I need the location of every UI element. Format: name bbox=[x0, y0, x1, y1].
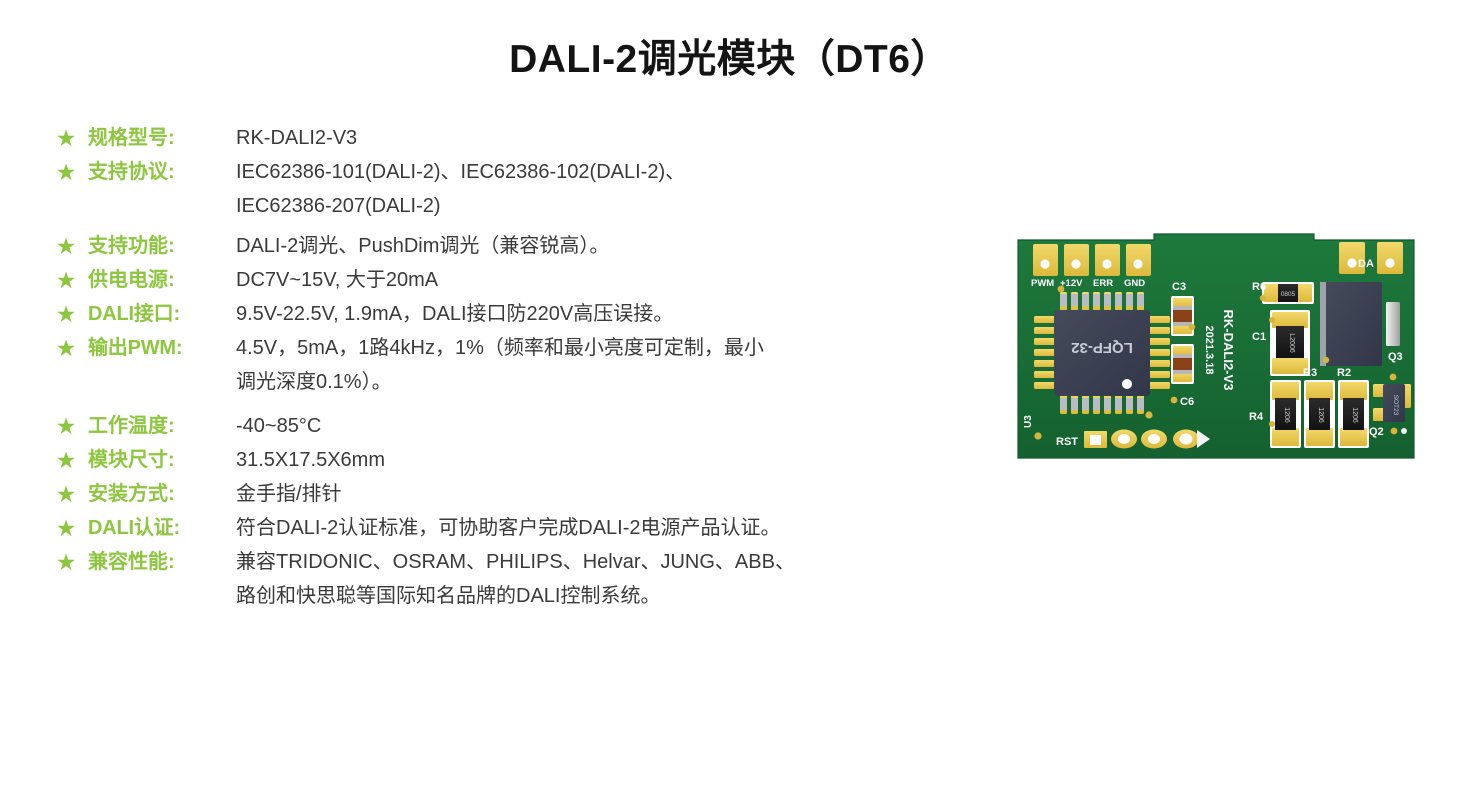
spec-value-model: RK-DALI2-V3 bbox=[236, 124, 994, 152]
spec-label-function: 支持功能: bbox=[88, 232, 236, 260]
spec-value-power: DC7V~15V, 大于20mA bbox=[236, 266, 994, 294]
spec-label-dimensions: 模块尺寸: bbox=[88, 446, 236, 474]
spec-label-power: 供电电源: bbox=[88, 266, 236, 294]
silk-label-r3: R3 bbox=[1303, 367, 1317, 379]
pcb-via bbox=[1034, 432, 1041, 439]
spec-value-dali-interface: 9.5V-22.5V, 1.9mA，DALI接口防220V高压误接。 bbox=[236, 300, 994, 328]
silk-code-l2006: L2006 bbox=[1288, 333, 1295, 353]
pcb-bottom-test-pads bbox=[1084, 430, 1210, 449]
silk-code-1206b: 1206 bbox=[1317, 407, 1324, 423]
pcb-illustration: PWM +12V ERR GND DA bbox=[1014, 232, 1418, 466]
star-icon: ★ bbox=[54, 233, 78, 261]
silk-label-r4: R4 bbox=[1249, 411, 1264, 423]
pcb-component-r3: 1206 bbox=[1304, 380, 1335, 448]
star-icon: ★ bbox=[54, 481, 78, 509]
spec-row-compatibility-cont: 路创和快思聪等国际知名品牌的DALI控制系统。 bbox=[54, 582, 994, 610]
spec-label-protocol: 支持协议: bbox=[88, 158, 236, 186]
pcb-product-image: PWM +12V ERR GND DA bbox=[1014, 232, 1418, 466]
star-icon: ★ bbox=[54, 515, 78, 543]
silk-label-lqfp32: LQFP-32 bbox=[1071, 339, 1133, 356]
silk-label-u3: U3 bbox=[1023, 415, 1034, 428]
pcb-via bbox=[1269, 421, 1275, 427]
silk-label-pwm: PWM bbox=[1031, 278, 1054, 289]
silk-label-da: DA bbox=[1358, 258, 1374, 270]
spec-label-dali-interface: DALI接口: bbox=[88, 300, 236, 328]
silk-label-q2: Q2 bbox=[1369, 426, 1384, 438]
pcb-via bbox=[1058, 286, 1065, 293]
spec-row-protocol-cont: IEC62386-207(DALI-2) bbox=[54, 192, 994, 220]
silk-label-r2: R2 bbox=[1337, 367, 1351, 379]
spec-label-compatibility: 兼容性能: bbox=[88, 548, 236, 576]
spec-row-certification: ★ DALI认证: 符合DALI-2认证标准，可协助客户完成DALI-2电源产品… bbox=[54, 514, 994, 542]
spec-row-mounting: ★ 安装方式: 金手指/排针 bbox=[54, 480, 994, 508]
star-icon: ★ bbox=[54, 125, 78, 153]
spec-row-pwm-cont: 调光深度0.1%）。 bbox=[54, 368, 994, 396]
spec-row-function: ★ 支持功能: DALI-2调光、PushDim调光（兼容锐高）。 bbox=[54, 232, 994, 260]
spec-value-certification: 符合DALI-2认证标准，可协助客户完成DALI-2电源产品认证。 bbox=[236, 514, 994, 542]
pcb-component-r6: 0805 bbox=[1262, 282, 1314, 304]
spec-value-pwm-line2: 调光深度0.1%）。 bbox=[236, 368, 994, 396]
spec-label-mounting: 安装方式: bbox=[88, 480, 236, 508]
spec-value-temperature: -40~85°C bbox=[236, 412, 994, 440]
star-icon: ★ bbox=[54, 301, 78, 329]
pcb-via bbox=[1390, 374, 1397, 381]
spec-label-pwm: 输出PWM: bbox=[88, 334, 236, 362]
silk-code-sot23: SOT23 bbox=[1392, 395, 1399, 416]
pcb-via bbox=[1171, 397, 1178, 404]
page-title: DALI-2调光模块（DT6） bbox=[0, 28, 1459, 84]
star-icon: ★ bbox=[54, 159, 78, 187]
spec-label-certification: DALI认证: bbox=[88, 514, 236, 542]
silk-code-0805: 0805 bbox=[1281, 291, 1296, 298]
pcb-via bbox=[1260, 295, 1266, 301]
silk-code-1206a: 1206 bbox=[1283, 407, 1290, 423]
silk-label-board-name: RK-DALI2-V3 bbox=[1221, 310, 1236, 391]
star-icon: ★ bbox=[54, 413, 78, 441]
pcb-component-r4: 1206 bbox=[1270, 380, 1301, 448]
spec-row-pwm: ★ 输出PWM: 4.5V，5mA，1路4kHz，1%（频率和最小亮度可定制，最… bbox=[54, 334, 994, 362]
spec-value-compatibility-line2: 路创和快思聪等国际知名品牌的DALI控制系统。 bbox=[236, 582, 994, 610]
spec-value-protocol-line1: IEC62386-101(DALI-2)、IEC62386-102(DALI-2… bbox=[236, 158, 994, 186]
silk-label-c3: C3 bbox=[1172, 281, 1186, 293]
spec-row-compatibility: ★ 兼容性能: 兼容TRIDONIC、OSRAM、PHILIPS、Helvar、… bbox=[54, 548, 994, 576]
silk-code-1206c: 1206 bbox=[1351, 407, 1358, 423]
spec-value-dimensions: 31.5X17.5X6mm bbox=[236, 446, 994, 474]
silk-label-r6: R6 bbox=[1252, 281, 1266, 293]
spec-value-protocol-line2: IEC62386-207(DALI-2) bbox=[236, 192, 994, 220]
pcb-via bbox=[1269, 317, 1275, 323]
silk-label-board-date: 2021.3.18 bbox=[1203, 326, 1215, 375]
pcb-component-r2: 1206 bbox=[1338, 380, 1369, 448]
silk-label-gnd: GND bbox=[1124, 278, 1145, 289]
spec-list: ★ 规格型号: RK-DALI2-V3 ★ 支持协议: IEC62386-101… bbox=[54, 124, 994, 616]
silk-label-q3: Q3 bbox=[1388, 351, 1403, 363]
pcb-component-c6 bbox=[1171, 344, 1194, 384]
pcb-via bbox=[1145, 411, 1152, 418]
spec-value-function: DALI-2调光、PushDim调光（兼容锐高）。 bbox=[236, 232, 994, 260]
pcb-component-c3 bbox=[1171, 296, 1194, 336]
spec-row-dali-interface: ★ DALI接口: 9.5V-22.5V, 1.9mA，DALI接口防220V高… bbox=[54, 300, 994, 328]
pcb-via bbox=[1391, 428, 1398, 435]
pcb-via bbox=[1189, 324, 1195, 330]
spec-value-mounting: 金手指/排针 bbox=[236, 480, 994, 508]
star-icon: ★ bbox=[54, 447, 78, 475]
star-icon: ★ bbox=[54, 267, 78, 295]
spec-label-temperature: 工作温度: bbox=[88, 412, 236, 440]
silk-label-rst: RST bbox=[1056, 436, 1078, 448]
spec-row-model: ★ 规格型号: RK-DALI2-V3 bbox=[54, 124, 994, 152]
spec-row-dimensions: ★ 模块尺寸: 31.5X17.5X6mm bbox=[54, 446, 994, 474]
star-icon: ★ bbox=[54, 549, 78, 577]
pcb-via bbox=[1401, 428, 1407, 434]
row-gap bbox=[54, 402, 994, 412]
silk-label-c6: C6 bbox=[1180, 396, 1194, 408]
spec-row-temperature: ★ 工作温度: -40~85°C bbox=[54, 412, 994, 440]
silk-label-c1: C1 bbox=[1252, 331, 1266, 343]
silk-label-err: ERR bbox=[1093, 278, 1113, 289]
spec-value-compatibility-line1: 兼容TRIDONIC、OSRAM、PHILIPS、Helvar、JUNG、ABB… bbox=[236, 548, 994, 576]
spec-row-power: ★ 供电电源: DC7V~15V, 大于20mA bbox=[54, 266, 994, 294]
pcb-via bbox=[1323, 357, 1329, 363]
product-spec-page: DALI-2调光模块（DT6） ★ 规格型号: RK-DALI2-V3 ★ 支持… bbox=[0, 0, 1459, 792]
spec-value-pwm-line1: 4.5V，5mA，1路4kHz，1%（频率和最小亮度可定制，最小 bbox=[236, 334, 994, 362]
spec-label-model: 规格型号: bbox=[88, 124, 236, 152]
spec-row-protocol: ★ 支持协议: IEC62386-101(DALI-2)、IEC62386-10… bbox=[54, 158, 994, 186]
star-icon: ★ bbox=[54, 335, 78, 363]
